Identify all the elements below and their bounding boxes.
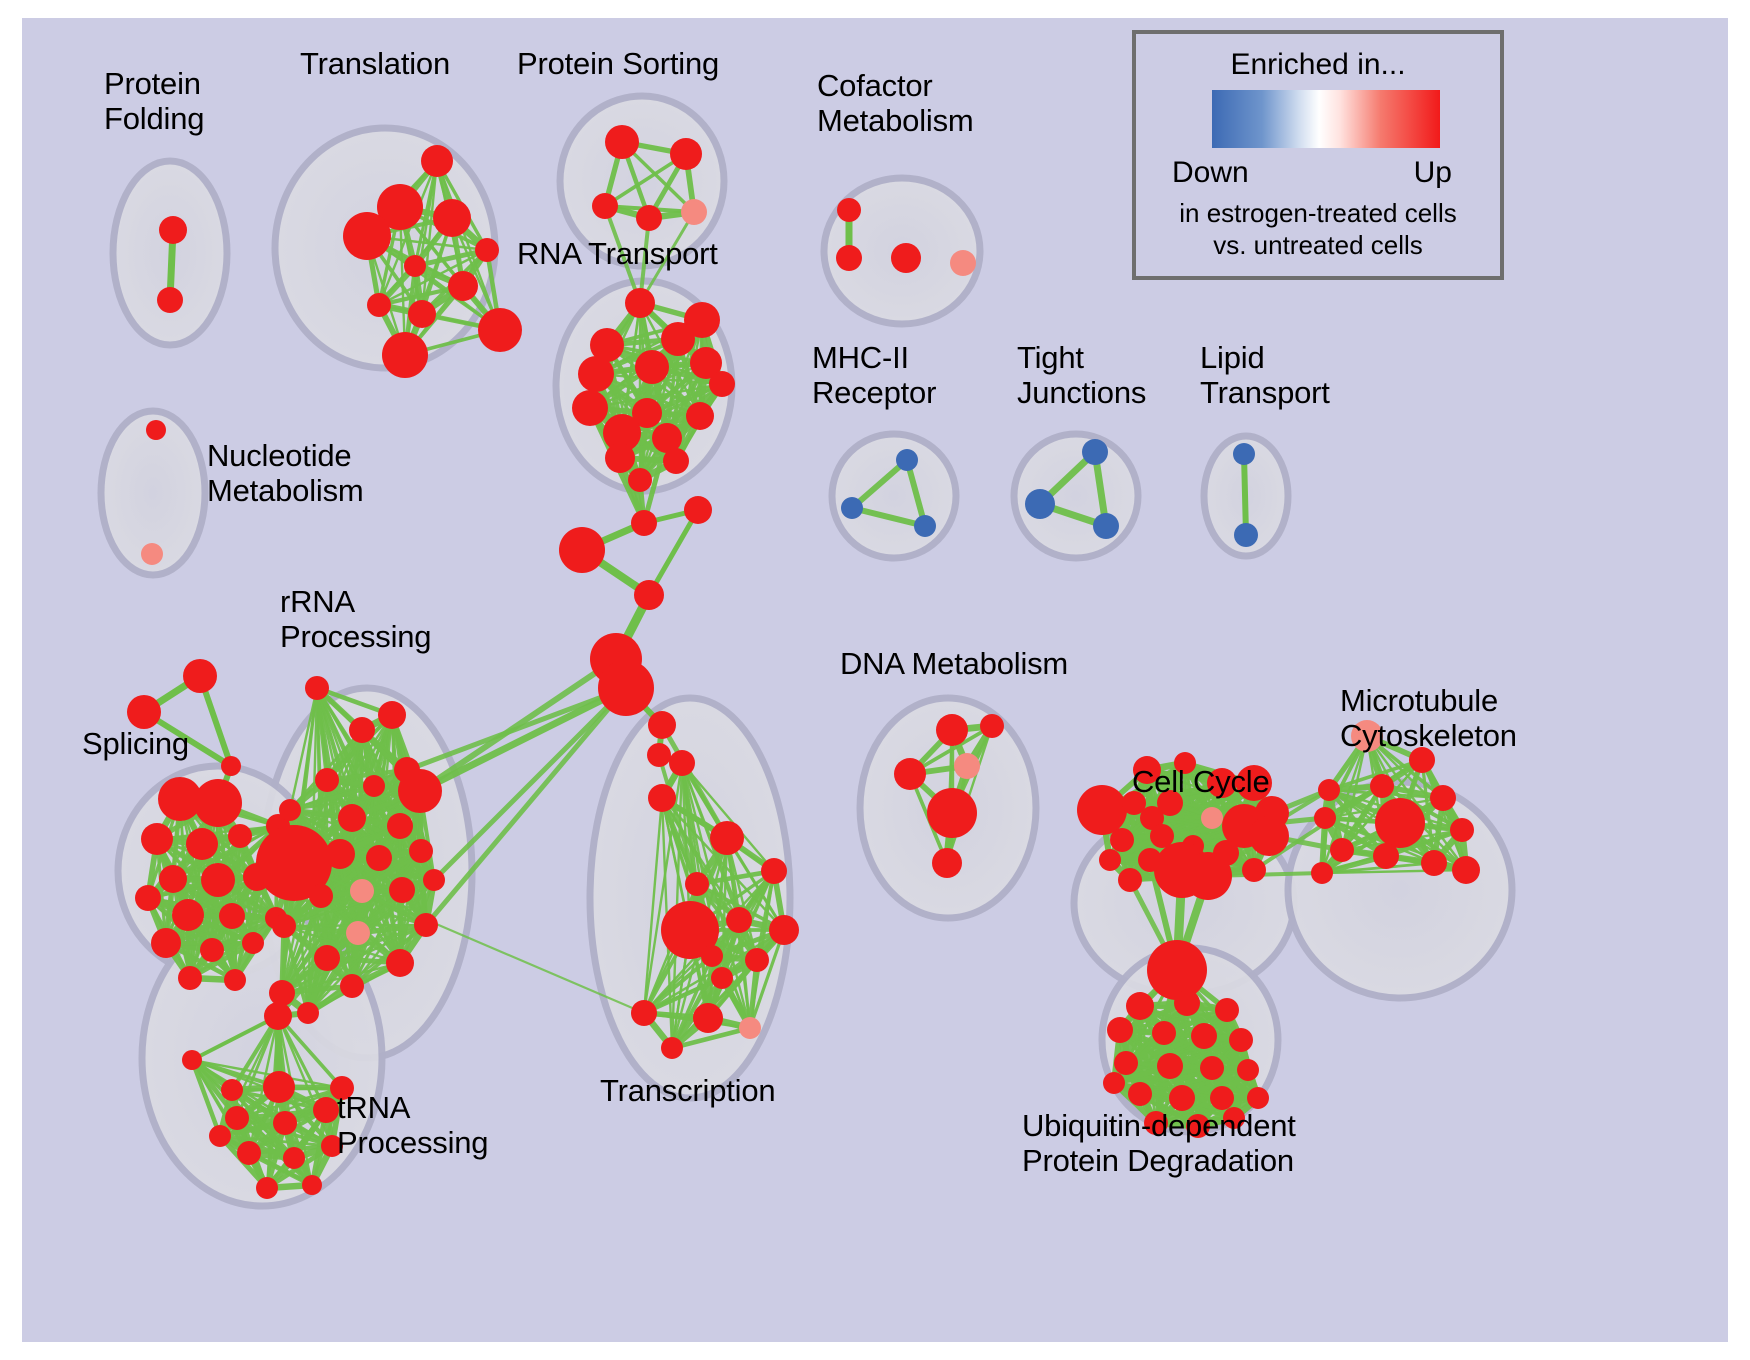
- network-node[interactable]: [578, 356, 614, 392]
- network-node[interactable]: [1249, 816, 1289, 856]
- network-node[interactable]: [636, 205, 662, 231]
- network-node[interactable]: [209, 1125, 231, 1147]
- network-node[interactable]: [349, 717, 375, 743]
- network-node[interactable]: [932, 848, 962, 878]
- network-node[interactable]: [1318, 779, 1340, 801]
- network-node[interactable]: [159, 865, 187, 893]
- network-node[interactable]: [635, 350, 669, 384]
- network-node[interactable]: [343, 212, 391, 260]
- network-node[interactable]: [1330, 838, 1354, 862]
- network-node[interactable]: [421, 145, 453, 177]
- network-node[interactable]: [1126, 992, 1154, 1020]
- network-node[interactable]: [1247, 1087, 1269, 1109]
- network-node[interactable]: [1118, 868, 1142, 892]
- network-node[interactable]: [1082, 439, 1108, 465]
- network-node[interactable]: [592, 193, 618, 219]
- network-node[interactable]: [726, 907, 752, 933]
- network-node[interactable]: [448, 271, 478, 301]
- network-node[interactable]: [183, 659, 217, 693]
- network-node[interactable]: [980, 714, 1004, 738]
- network-node[interactable]: [297, 1002, 319, 1024]
- network-node[interactable]: [367, 293, 391, 317]
- network-node[interactable]: [745, 948, 769, 972]
- network-node[interactable]: [709, 371, 735, 397]
- network-node[interactable]: [224, 969, 246, 991]
- network-node[interactable]: [178, 966, 202, 990]
- network-node[interactable]: [221, 756, 241, 776]
- cluster-label-rrna-processing: rRNA Processing: [280, 584, 431, 654]
- network-node[interactable]: [1114, 1051, 1138, 1075]
- network-edge: [420, 688, 626, 791]
- network-node[interactable]: [896, 449, 918, 471]
- network-node[interactable]: [693, 1003, 723, 1033]
- network-node[interactable]: [927, 788, 977, 838]
- network-node[interactable]: [346, 921, 370, 945]
- figure-root: Protein FoldingTranslationProtein Sortin…: [0, 0, 1750, 1360]
- network-node[interactable]: [256, 1177, 278, 1199]
- network-node[interactable]: [559, 527, 605, 573]
- network-node[interactable]: [1421, 850, 1447, 876]
- network-node[interactable]: [146, 420, 166, 440]
- network-node[interactable]: [1174, 990, 1200, 1016]
- network-node[interactable]: [338, 804, 366, 832]
- network-node[interactable]: [647, 743, 671, 767]
- network-node[interactable]: [1099, 849, 1121, 871]
- network-node[interactable]: [769, 915, 799, 945]
- network-node[interactable]: [1152, 1021, 1176, 1045]
- network-node[interactable]: [141, 543, 163, 565]
- network-node[interactable]: [315, 768, 339, 792]
- network-node[interactable]: [263, 1071, 295, 1103]
- network-node[interactable]: [628, 468, 652, 492]
- legend-subtitle-line2: vs. untreated cells: [1136, 230, 1500, 261]
- network-node[interactable]: [670, 138, 702, 170]
- network-node[interactable]: [841, 497, 863, 519]
- network-node[interactable]: [631, 510, 657, 536]
- cluster-label-mhc-ii-receptor: MHC-II Receptor: [812, 340, 936, 410]
- network-node[interactable]: [1215, 998, 1239, 1022]
- network-node[interactable]: [157, 287, 183, 313]
- legend-color-gradient-bar: [1212, 90, 1440, 148]
- network-node[interactable]: [1128, 1082, 1152, 1106]
- cluster-label-ubiquitin-protein-degradation: Ubiquitin-dependent Protein Degradation: [1022, 1108, 1296, 1178]
- network-node[interactable]: [1110, 828, 1134, 852]
- network-node[interactable]: [135, 885, 161, 911]
- network-node[interactable]: [305, 676, 329, 700]
- network-node[interactable]: [1157, 1053, 1183, 1079]
- network-node[interactable]: [572, 390, 608, 426]
- network-node[interactable]: [302, 1175, 322, 1195]
- network-node[interactable]: [605, 443, 635, 473]
- cluster-label-protein-folding: Protein Folding: [104, 66, 204, 136]
- network-node[interactable]: [661, 322, 695, 356]
- network-node[interactable]: [625, 288, 655, 318]
- legend-subtitle-line1: in estrogen-treated cells: [1136, 198, 1500, 229]
- network-node[interactable]: [269, 980, 295, 1006]
- network-node[interactable]: [631, 1000, 657, 1026]
- network-node[interactable]: [954, 753, 980, 779]
- network-node[interactable]: [423, 869, 445, 891]
- network-node[interactable]: [151, 928, 181, 958]
- network-node[interactable]: [648, 784, 676, 812]
- network-node[interactable]: [228, 824, 252, 848]
- network-node[interactable]: [684, 496, 712, 524]
- network-node[interactable]: [661, 1037, 683, 1059]
- network-node[interactable]: [1201, 807, 1223, 829]
- network-node[interactable]: [1077, 785, 1127, 835]
- network-node[interactable]: [272, 914, 296, 938]
- network-node[interactable]: [761, 858, 787, 884]
- network-node[interactable]: [1200, 1056, 1224, 1080]
- cluster-label-cofactor-metabolism: Cofactor Metabolism: [817, 68, 974, 138]
- network-node[interactable]: [242, 932, 264, 954]
- network-node[interactable]: [663, 448, 689, 474]
- network-node[interactable]: [350, 879, 374, 903]
- network-node[interactable]: [605, 125, 639, 159]
- network-node[interactable]: [313, 1097, 339, 1123]
- network-node[interactable]: [340, 974, 364, 998]
- network-node[interactable]: [475, 238, 499, 262]
- cluster-label-translation: Translation: [300, 46, 450, 81]
- network-node[interactable]: [1370, 774, 1394, 798]
- network-node[interactable]: [648, 711, 676, 739]
- network-node[interactable]: [1150, 824, 1174, 848]
- network-node[interactable]: [950, 250, 976, 276]
- network-node[interactable]: [159, 216, 187, 244]
- network-node[interactable]: [273, 1111, 297, 1135]
- cluster-ellipse-mhc-ii-receptor[interactable]: [832, 434, 956, 558]
- network-node[interactable]: [739, 1017, 761, 1039]
- network-node[interactable]: [701, 945, 723, 967]
- network-node[interactable]: [172, 899, 204, 931]
- network-node[interactable]: [686, 402, 714, 430]
- network-node[interactable]: [478, 308, 522, 352]
- network-node[interactable]: [264, 1002, 292, 1030]
- network-node[interactable]: [1191, 1023, 1217, 1049]
- cluster-label-microtubule-cytoskeleton: Microtubule Cytoskeleton: [1340, 683, 1517, 753]
- network-node[interactable]: [1311, 862, 1333, 884]
- network-node[interactable]: [182, 1050, 202, 1070]
- network-edge: [1244, 454, 1246, 535]
- legend-down-label: Down: [1172, 156, 1249, 190]
- cluster-label-rna-transport: RNA Transport: [517, 236, 718, 271]
- network-node[interactable]: [669, 750, 695, 776]
- network-node[interactable]: [237, 1141, 261, 1165]
- cluster-label-splicing: Splicing: [82, 726, 189, 761]
- network-node[interactable]: [1375, 798, 1425, 848]
- network-node[interactable]: [634, 580, 664, 610]
- network-node[interactable]: [1093, 513, 1119, 539]
- cluster-label-trna-processing: tRNA Processing: [337, 1090, 488, 1160]
- network-node[interactable]: [389, 877, 415, 903]
- network-node[interactable]: [404, 255, 426, 277]
- network-node[interactable]: [1233, 443, 1255, 465]
- network-node[interactable]: [1147, 940, 1207, 1000]
- network-canvas: Protein FoldingTranslationProtein Sortin…: [22, 18, 1728, 1342]
- network-node[interactable]: [710, 821, 744, 855]
- network-node[interactable]: [200, 938, 224, 962]
- network-node[interactable]: [1373, 843, 1399, 869]
- network-node[interactable]: [1210, 1086, 1234, 1110]
- legend-up-label: Up: [1414, 156, 1452, 190]
- legend-title: Enriched in...: [1136, 48, 1500, 82]
- network-node[interactable]: [894, 758, 926, 790]
- network-node[interactable]: [194, 779, 242, 827]
- network-node[interactable]: [414, 913, 438, 937]
- network-node[interactable]: [409, 839, 433, 863]
- network-node[interactable]: [1107, 1017, 1133, 1043]
- network-node[interactable]: [1452, 856, 1480, 884]
- cluster-label-transcription: Transcription: [600, 1073, 775, 1108]
- network-node[interactable]: [382, 332, 428, 378]
- network-node[interactable]: [1184, 852, 1232, 900]
- network-node[interactable]: [221, 1079, 243, 1101]
- network-node[interactable]: [1229, 1028, 1253, 1052]
- cluster-label-tight-junctions: Tight Junctions: [1017, 340, 1146, 410]
- network-node[interactable]: [1450, 818, 1474, 842]
- network-node[interactable]: [127, 695, 161, 729]
- network-node[interactable]: [681, 199, 707, 225]
- network-node[interactable]: [279, 799, 301, 821]
- network-node[interactable]: [836, 245, 862, 271]
- network-node[interactable]: [314, 945, 340, 971]
- cluster-label-protein-sorting: Protein Sorting: [517, 46, 719, 81]
- network-node[interactable]: [433, 199, 471, 237]
- network-node[interactable]: [1234, 523, 1258, 547]
- network-node[interactable]: [1103, 1072, 1125, 1094]
- cluster-label-lipid-transport: Lipid Transport: [1200, 340, 1330, 410]
- network-node[interactable]: [1242, 858, 1266, 882]
- cluster-label-nucleotide-metabolism: Nucleotide Metabolism: [207, 438, 364, 508]
- network-node[interactable]: [387, 813, 413, 839]
- network-node[interactable]: [398, 769, 442, 813]
- network-node[interactable]: [201, 863, 235, 897]
- network-node[interactable]: [309, 884, 333, 908]
- network-node[interactable]: [186, 828, 218, 860]
- network-node[interactable]: [141, 823, 173, 855]
- cluster-label-dna-metabolism: DNA Metabolism: [840, 646, 1068, 681]
- network-node[interactable]: [685, 872, 709, 896]
- network-node[interactable]: [837, 198, 861, 222]
- network-node[interactable]: [219, 903, 245, 929]
- network-node[interactable]: [711, 967, 733, 989]
- network-node[interactable]: [386, 949, 414, 977]
- network-node[interactable]: [225, 1106, 249, 1130]
- network-node[interactable]: [914, 515, 936, 537]
- network-node[interactable]: [1314, 807, 1336, 829]
- network-node[interactable]: [936, 714, 968, 746]
- cluster-label-cell-cycle: Cell Cycle: [1132, 764, 1270, 799]
- network-node[interactable]: [891, 243, 921, 273]
- network-node[interactable]: [378, 701, 406, 729]
- network-node[interactable]: [1237, 1059, 1259, 1081]
- legend-box: Enriched in... Down Up in estrogen-treat…: [1132, 30, 1504, 280]
- network-node[interactable]: [598, 660, 654, 716]
- network-node[interactable]: [366, 845, 392, 871]
- network-node[interactable]: [283, 1147, 305, 1169]
- network-node[interactable]: [1430, 785, 1456, 811]
- network-node[interactable]: [1025, 489, 1055, 519]
- network-node[interactable]: [325, 839, 355, 869]
- network-node[interactable]: [408, 300, 436, 328]
- network-node[interactable]: [363, 775, 385, 797]
